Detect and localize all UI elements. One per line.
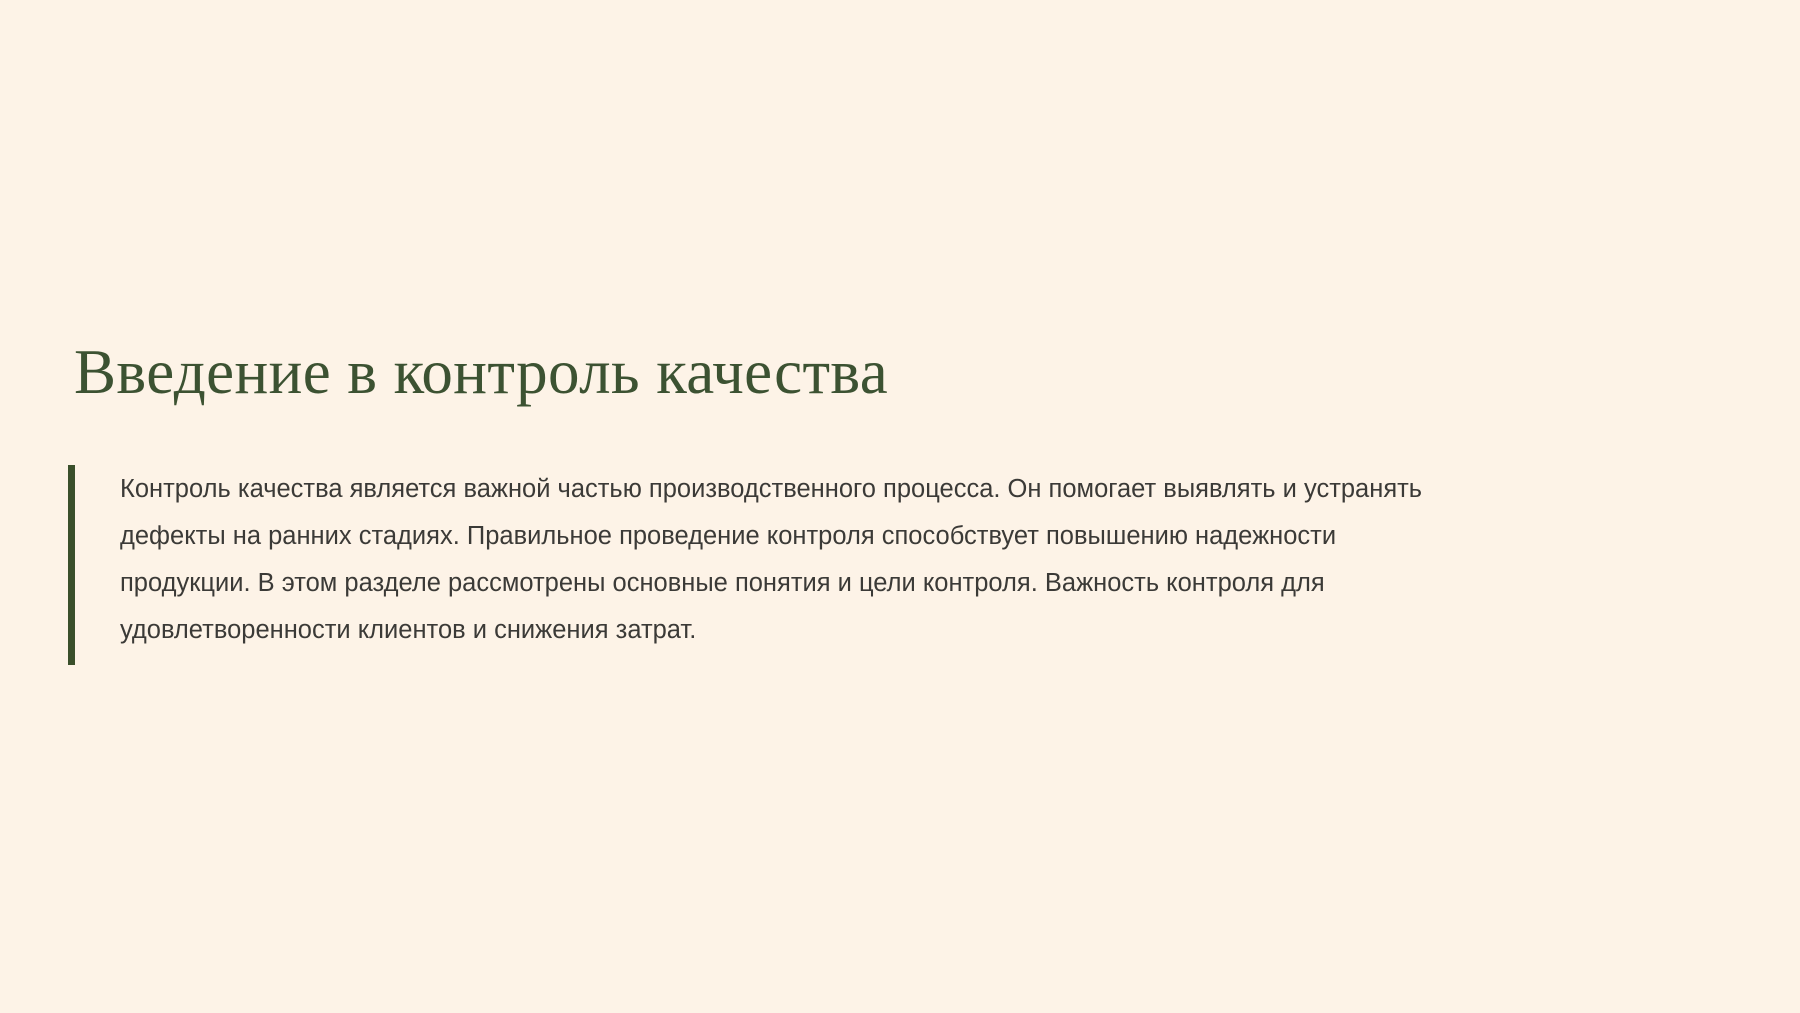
body-paragraph: Контроль качества является важной частью…	[75, 465, 1708, 665]
body-line: продукции. В этом разделе рассмотрены ос…	[120, 560, 1708, 607]
body-line: Контроль качества является важной частью…	[120, 466, 1708, 513]
body-line: удовлетворенности клиентов и снижения за…	[120, 607, 1708, 654]
accent-bar	[68, 465, 75, 665]
quote-block: Контроль качества является важной частью…	[68, 465, 1708, 665]
page-title: Введение в контроль качества	[74, 337, 1674, 408]
body-line: дефекты на ранних стадиях. Правильное пр…	[120, 513, 1708, 560]
slide-canvas: Введение в контроль качества Контроль ка…	[0, 0, 1800, 1013]
